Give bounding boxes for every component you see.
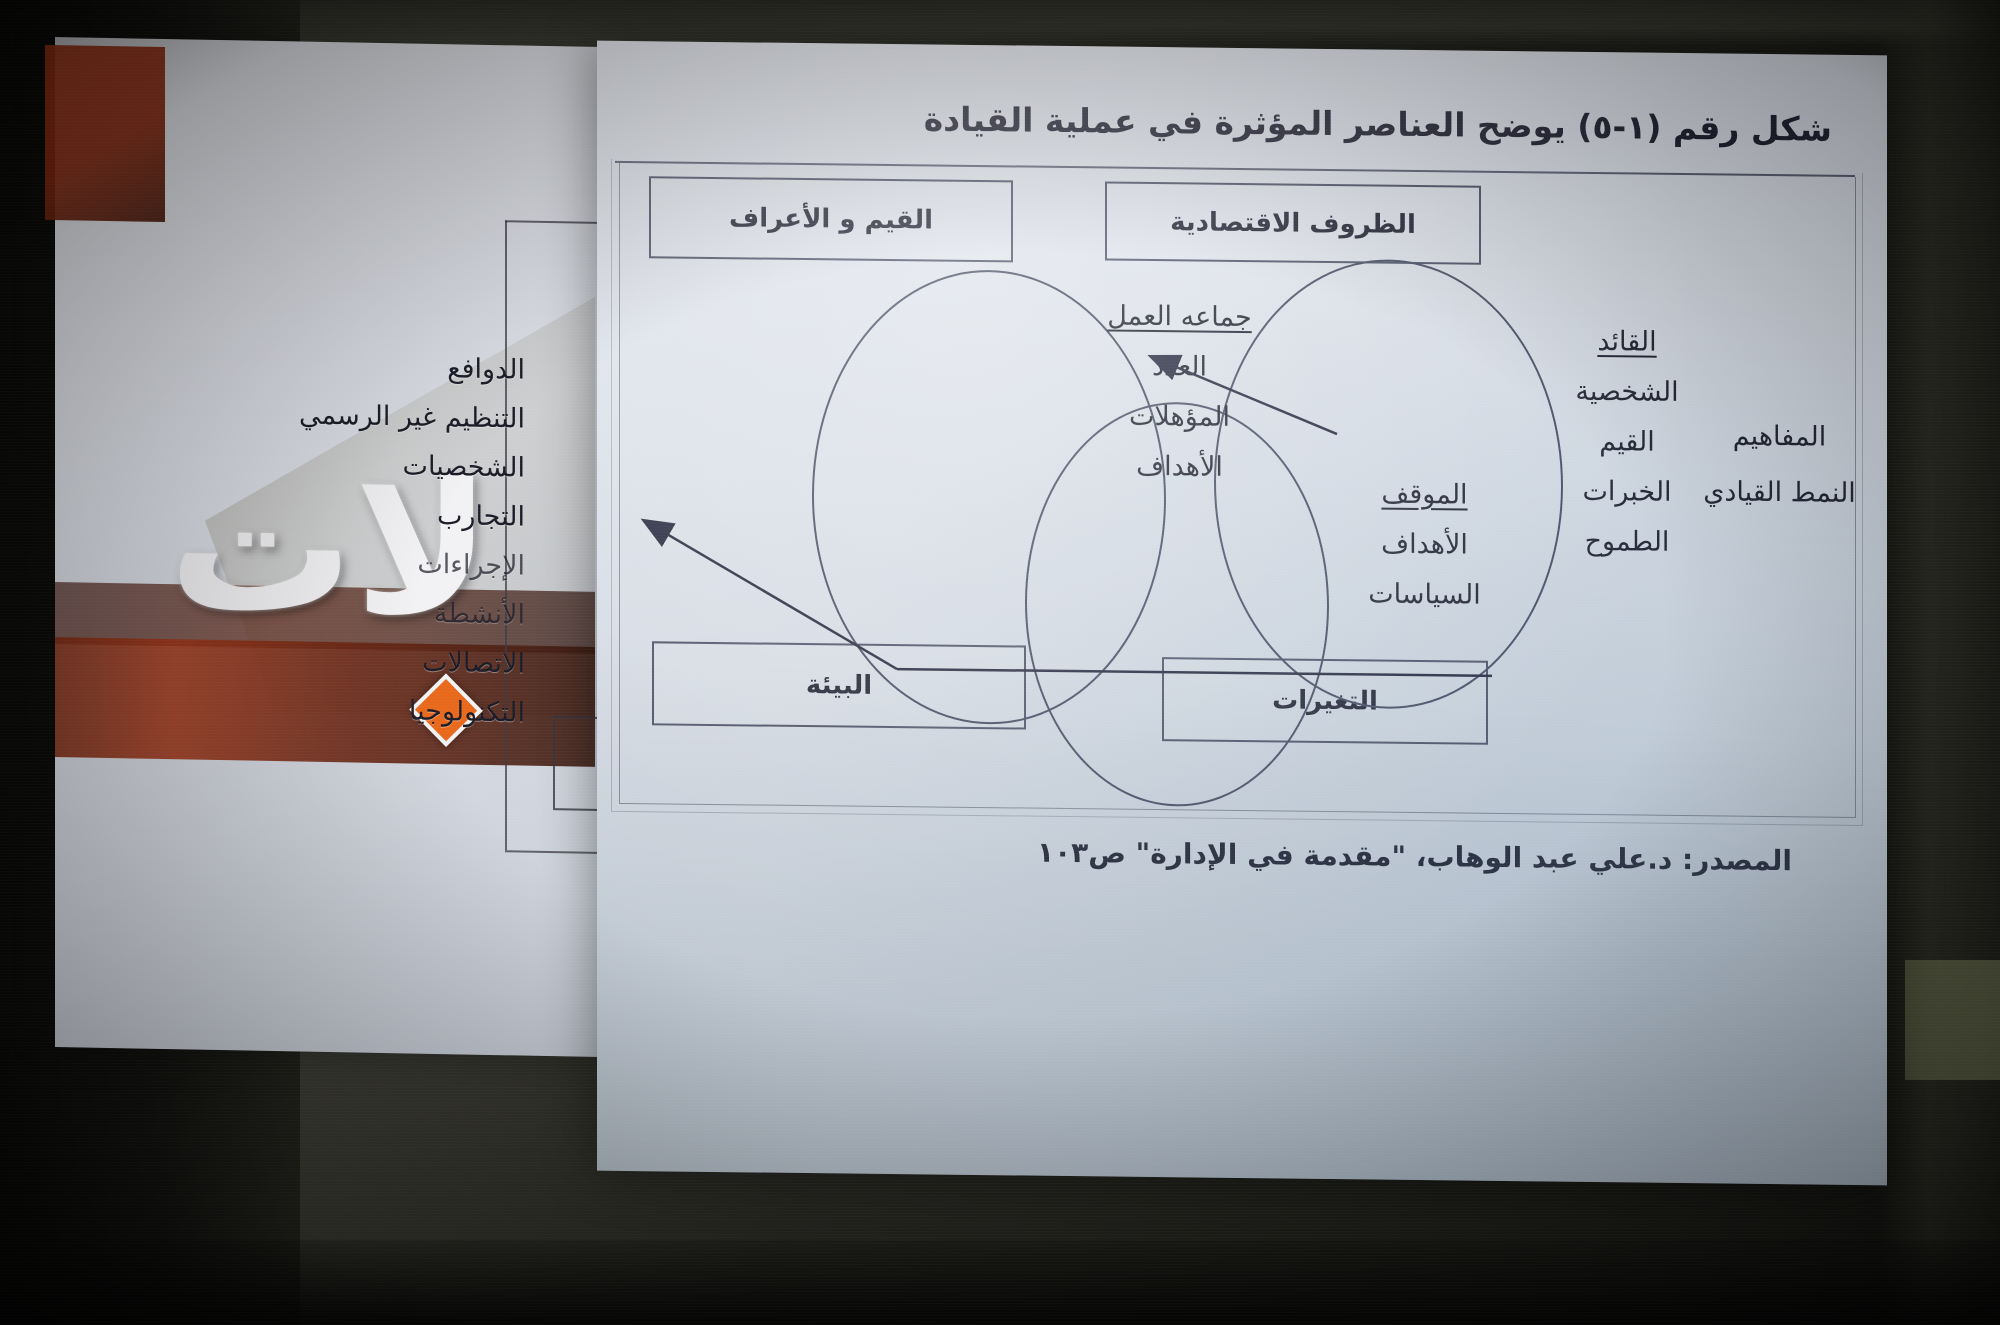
- background-slide-red-corner: [45, 45, 165, 222]
- venn-text-work-group: جماعه العمل العدد المؤهلات الأهداف: [1087, 291, 1272, 493]
- wall-top-shadow-band: [0, 0, 2000, 46]
- wall-bottom-shadow: [0, 1240, 2000, 1325]
- slide-title: شكل رقم (١-٥) يوضح العناصر المؤثرة في عم…: [672, 97, 1832, 149]
- venn-item: القيم: [1542, 416, 1712, 468]
- background-slide: لات الدوافع التنظيم غير الرسمي الشخصيات …: [55, 37, 600, 1057]
- list-item: الاتصالات: [105, 632, 525, 689]
- venn-item: الأهداف: [1087, 441, 1272, 493]
- source-citation: المصدر: د.علي عبد الوهاب، "مقدمة في الإد…: [792, 833, 1792, 877]
- annotation-leadership-style: النمط القيادي: [1692, 464, 1867, 522]
- wall-green-panel: [1905, 960, 2000, 1080]
- list-item: التنظيم غير الرسمي: [105, 387, 525, 444]
- venn-text-situation: الموقف الأهداف السياسات: [1342, 469, 1507, 621]
- label-box-text: البيئة: [806, 670, 872, 701]
- list-item: الشخصيات: [105, 436, 525, 493]
- list-item: الأنشطة: [105, 583, 525, 640]
- list-item: التكنولوجيا: [105, 681, 525, 738]
- list-item: التجارب: [105, 485, 525, 542]
- venn-item: الأهداف: [1342, 519, 1507, 571]
- label-box-economic-conditions: الظروف الاقتصادية: [1105, 181, 1481, 264]
- venn-item: السياسات: [1342, 569, 1507, 621]
- venn-item: الشخصية: [1542, 366, 1712, 418]
- venn-item: الطموح: [1542, 516, 1712, 568]
- venn-heading: جماعه العمل: [1087, 291, 1272, 343]
- annotation-outputs: المفاهيم النمط القيادي: [1692, 408, 1867, 522]
- screenshot-root: لات الدوافع التنظيم غير الرسمي الشخصيات …: [0, 0, 2000, 1325]
- venn-item: العدد: [1087, 341, 1272, 393]
- annotation-concepts: المفاهيم: [1692, 408, 1867, 466]
- list-item: الإجراءات: [105, 534, 525, 591]
- venn-item: الخبرات: [1542, 466, 1712, 518]
- venn-heading: القائد: [1542, 316, 1712, 368]
- background-slide-item-list: الدوافع التنظيم غير الرسمي الشخصيات التج…: [105, 338, 525, 738]
- venn-heading: الموقف: [1342, 469, 1507, 521]
- label-box-text: القيم و الأعراف: [729, 203, 933, 235]
- label-box-text: الظروف الاقتصادية: [1170, 207, 1416, 240]
- label-box-values-norms: القيم و الأعراف: [649, 176, 1013, 262]
- list-item: الدوافع: [105, 338, 525, 395]
- wall-right-dark-band: [1880, 0, 2000, 1325]
- venn-item: المؤهلات: [1087, 391, 1272, 443]
- main-slide: شكل رقم (١-٥) يوضح العناصر المؤثرة في عم…: [597, 41, 1887, 1186]
- venn-text-leader: القائد الشخصية القيم الخبرات الطموح: [1542, 316, 1712, 568]
